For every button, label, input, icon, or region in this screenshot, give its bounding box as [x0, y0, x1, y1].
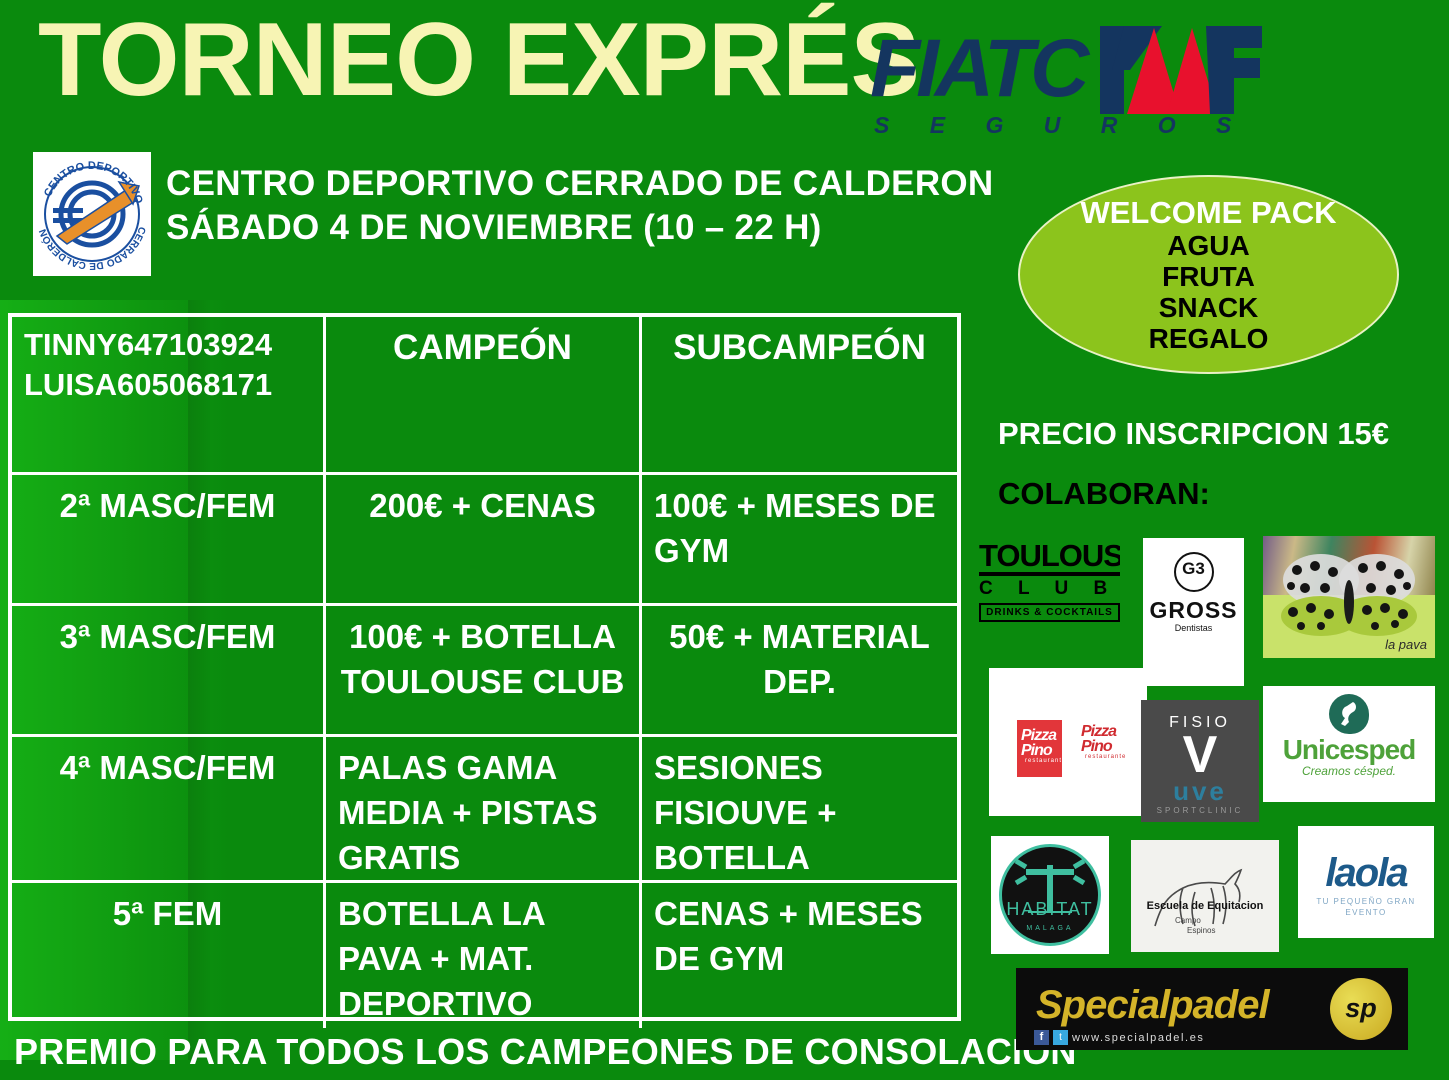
- welcome-pack-item-snack: SNACK: [1020, 292, 1397, 323]
- runner-up-prize-cell: SESIONES FISIOUVE + BOTELLA HABITAT: [642, 737, 957, 880]
- table-row: 4ª MASC/FEM PALAS GAMA MEDIA + PISTAS GR…: [12, 737, 957, 883]
- specialpadel-name: Specialpadel: [1036, 984, 1269, 1026]
- club-logo: CENTRO DEPORTIVO CERRADO DE CALDERÓN: [33, 152, 151, 276]
- unicesped-name: Unicesped: [1263, 736, 1435, 764]
- runner-up-prize-cell: 100€ + MESES DE GYM: [642, 475, 957, 603]
- svg-text:CERRADO DE CALDERÓN: CERRADO DE CALDERÓN: [38, 225, 148, 271]
- consolation-note: PREMIO PARA TODOS LOS CAMPEONES DE CONSO…: [14, 1032, 1077, 1072]
- toulouse-name: TOULOUSE: [979, 540, 1120, 576]
- runner-up-prize-cell: CENAS + MESES DE GYM: [642, 883, 957, 1028]
- pizza-pino-badge: Pizza Pino restaurante: [1017, 720, 1062, 777]
- runner-up-prize-cell: 50€ + MATERIAL DEP.: [642, 606, 957, 734]
- column-header-champion: CAMPEÓN: [326, 317, 642, 472]
- fisio-subtitle: SPORTCLINIC: [1141, 806, 1259, 815]
- specialpadel-mark: sp: [1330, 994, 1392, 1022]
- pizza-pino-text-sub: restaurante: [1085, 754, 1126, 760]
- venue-info: CENTRO DEPORTIVO CERRADO DE CALDERON SÁB…: [166, 162, 994, 250]
- equitacion-sub-2: Espinos: [1187, 926, 1215, 935]
- pizza-pino-text-line1: Pizza: [1081, 724, 1126, 739]
- pizza-pino-badge-line2: Pino: [1021, 743, 1062, 758]
- pizza-pino-badge-line1: Pizza: [1021, 728, 1062, 743]
- poster-title: TORNEO EXPRÉS: [38, 8, 919, 112]
- table-row: 5ª FEM BOTELLA LA PAVA + MAT. DEPORTIVO …: [12, 883, 957, 1028]
- category-cell: 5ª FEM: [12, 883, 326, 1028]
- sponsor-toulouse-club: TOULOUSE C L U B DRINKS & COCKTAILS: [979, 540, 1120, 645]
- welcome-pack-item-regalo: REGALO: [1020, 323, 1397, 354]
- sponsor-fisio-uve: FISIO V uve SPORTCLINIC: [1141, 700, 1259, 822]
- fiatc-tagline: S E G U R O S: [874, 114, 1248, 137]
- welcome-pack-item-fruta: FRUTA: [1020, 261, 1397, 292]
- table-row: 2ª MASC/FEM 200€ + CENAS 100€ + MESES DE…: [12, 475, 957, 606]
- tournament-poster: TORNEO EXPRÉS FIATC S E G U R O S CENTRO: [0, 0, 1449, 1080]
- pizza-pino-text-line2: Pino: [1081, 739, 1126, 754]
- venue-line-1: CENTRO DEPORTIVO CERRADO DE CALDERON: [166, 162, 994, 206]
- welcome-pack-heading: WELCOME PACK: [1020, 195, 1397, 230]
- specialpadel-url[interactable]: www.specialpadel.es: [1072, 1032, 1205, 1044]
- pizza-pino-badge-sub: restaurante: [1025, 758, 1062, 764]
- habitat-name: HABITAT: [1002, 900, 1098, 919]
- la-pava-signature: la pava: [1385, 637, 1427, 652]
- champion-prize-cell: PALAS GAMA MEDIA + PISTAS GRATIS: [326, 737, 642, 880]
- gross-badge-text: G3: [1176, 560, 1212, 578]
- equitacion-sub-1: Campo: [1175, 916, 1201, 925]
- champion-prize-cell: 100€ + BOTELLA TOULOUSE CLUB: [326, 606, 642, 734]
- unicesped-kangaroo-icon: [1329, 694, 1369, 734]
- specialpadel-ball-icon: sp: [1330, 978, 1392, 1040]
- column-header-runner-up: SUBCAMPEÓN: [642, 317, 957, 472]
- sponsor-laola: laola TU PEQUEÑO GRAN EVENTO: [1298, 826, 1434, 938]
- laola-name: laola: [1298, 850, 1434, 896]
- champion-prize-cell: 200€ + CENAS: [326, 475, 642, 603]
- registration-price: PRECIO INSCRIPCION 15€: [998, 417, 1389, 451]
- fisio-uve-name: uve: [1141, 779, 1259, 803]
- fisio-v-mark-icon: V: [1141, 731, 1259, 779]
- sponsor-unicesped: Unicesped Creamos césped.: [1263, 686, 1435, 802]
- welcome-pack-item-agua: AGUA: [1020, 230, 1397, 261]
- contact-tinny: TINNY647103924: [24, 325, 311, 365]
- venue-line-2: SÁBADO 4 DE NOVIEMBRE (10 – 22 H): [166, 206, 994, 250]
- toulouse-subtitle: DRINKS & COCKTAILS: [979, 603, 1120, 622]
- prize-table: TINNY647103924 LUISA605068171 CAMPEÓN SU…: [8, 313, 961, 1021]
- category-cell: 2ª MASC/FEM: [12, 475, 326, 603]
- horse-outline-icon: [1131, 840, 1279, 952]
- sponsor-escuela-equitacion: Escuela de Equitacion Campo Espinos: [1131, 840, 1279, 952]
- facebook-icon[interactable]: f: [1034, 1030, 1049, 1045]
- organizer-contacts-cell: TINNY647103924 LUISA605068171: [12, 317, 326, 472]
- club-emblem-icon: CENTRO DEPORTIVO CERRADO DE CALDERÓN: [33, 152, 151, 276]
- sponsor-specialpadel: Specialpadel sp f t www.specialpadel.es: [1016, 968, 1408, 1050]
- habitat-circle-badge: HABITAT MALAGA: [999, 844, 1101, 946]
- champion-prize-cell: BOTELLA LA PAVA + MAT. DEPORTIVO: [326, 883, 642, 1028]
- category-cell: 4ª MASC/FEM: [12, 737, 326, 880]
- equitacion-name: Escuela de Equitacion: [1131, 900, 1279, 912]
- welcome-pack-badge: WELCOME PACK AGUA FRUTA SNACK REGALO: [1018, 175, 1399, 374]
- category-cell: 3ª MASC/FEM: [12, 606, 326, 734]
- toulouse-club-word: C L U B: [979, 578, 1120, 600]
- table-row: 3ª MASC/FEM 100€ + BOTELLA TOULOUSE CLUB…: [12, 606, 957, 737]
- gross-name: GROSS: [1143, 598, 1244, 622]
- contact-luisa: LUISA605068171: [24, 365, 311, 405]
- table-header-row: TINNY647103924 LUISA605068171 CAMPEÓN SU…: [12, 317, 957, 475]
- collaborators-label: COLABORAN:: [998, 477, 1210, 511]
- fiatc-logo: FIATC S E G U R O S: [862, 18, 1282, 143]
- gross-badge-icon: G3: [1174, 552, 1214, 592]
- sponsor-gross-dentistas: G3 GROSS Dentistas: [1143, 538, 1244, 686]
- habitat-subtitle: MALAGA: [1002, 925, 1098, 932]
- unicesped-subtitle: Creamos césped.: [1263, 764, 1435, 779]
- laola-subtitle: TU PEQUEÑO GRAN EVENTO: [1298, 896, 1434, 918]
- sponsor-pizza-pino: Pizza Pino restaurante Pizza Pino restau…: [989, 668, 1147, 816]
- sponsor-habitat: HABITAT MALAGA: [991, 836, 1109, 954]
- twitter-icon[interactable]: t: [1053, 1030, 1068, 1045]
- sponsor-la-pava: la pava: [1263, 536, 1435, 658]
- gross-subtitle: Dentistas: [1143, 622, 1244, 634]
